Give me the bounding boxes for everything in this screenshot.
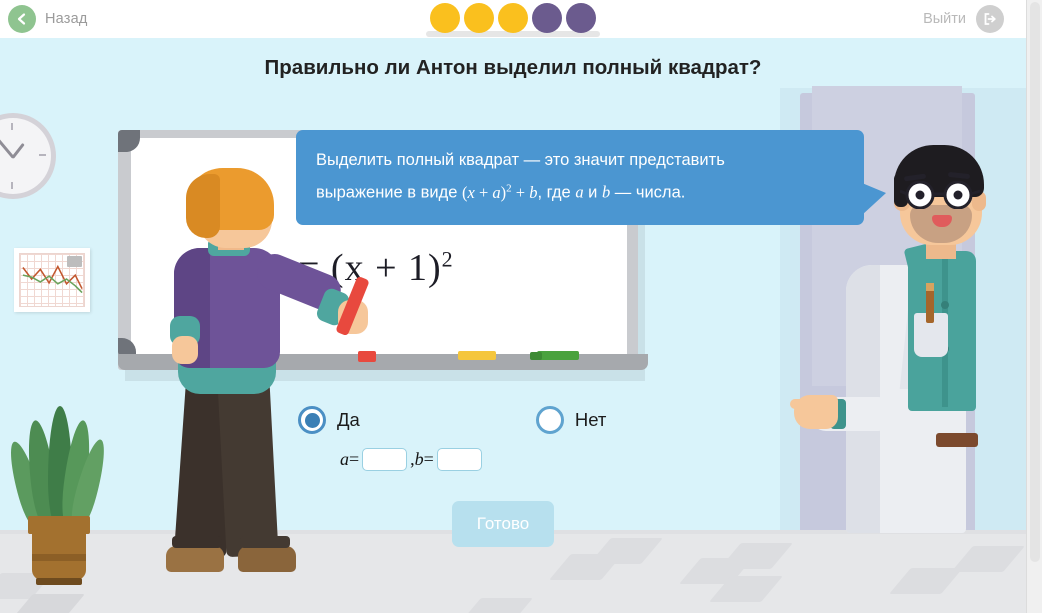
clock-minute-hand	[0, 137, 14, 159]
page-scrollbar[interactable]	[1026, 0, 1042, 613]
hint-conj: и	[584, 184, 602, 202]
hint-plus: +	[475, 183, 493, 202]
student-left-hand	[172, 336, 198, 364]
potted-plant	[10, 398, 106, 578]
progress-dot-3	[498, 3, 528, 33]
teacher-pen-tip	[926, 283, 934, 291]
hint-var-x: x	[468, 183, 475, 202]
lesson-screen: Назад Выйти	[0, 0, 1042, 613]
hint-var-a: a	[492, 183, 500, 202]
radio-no-label: Нет	[575, 409, 607, 431]
hint-plus-b: +	[512, 183, 530, 202]
poster-chart	[19, 253, 85, 307]
hint-line-2-mid: , где	[537, 184, 575, 202]
teacher-pen	[926, 289, 934, 323]
glasses-icon	[900, 181, 982, 209]
submit-button[interactable]: Готово	[452, 501, 554, 547]
hint-line-2-suffix: — числа.	[610, 184, 685, 202]
teacher-shirt-button	[941, 301, 949, 309]
poster-badge-icon	[67, 256, 82, 267]
green-marker-cap	[530, 352, 542, 360]
scrollbar-thumb[interactable]	[1030, 2, 1040, 562]
student-left-shoe-cuff	[172, 536, 222, 548]
hint-var-a-inline: a	[575, 183, 583, 202]
hint-line-2-prefix: выражение в виде	[316, 184, 462, 202]
teacher-index-finger	[790, 399, 816, 409]
exit-label: Выйти	[923, 11, 966, 27]
green-marker	[537, 351, 579, 360]
progress-dot-2	[464, 3, 494, 33]
hint-formula: (x + a)2 + b	[462, 183, 537, 202]
yellow-marker	[458, 351, 496, 360]
back-label: Назад	[45, 11, 88, 27]
board-formula-exponent: 2	[442, 246, 454, 271]
clock-tick	[11, 123, 13, 130]
teacher-belt	[936, 433, 978, 447]
radio-no-icon[interactable]	[536, 406, 564, 434]
student-left-shoe	[166, 546, 224, 572]
plant-pot-base	[36, 578, 82, 585]
progress-dot-5	[566, 3, 596, 33]
exit-arrow-icon	[976, 5, 1004, 33]
exit-button[interactable]: Выйти	[923, 5, 1004, 33]
back-button[interactable]: Назад	[8, 5, 88, 33]
line-chart-poster	[14, 248, 90, 312]
radio-option-no[interactable]: Нет	[536, 406, 607, 434]
lesson-body: Правильно ли Антон выделил полный квадра…	[0, 38, 1026, 613]
coefficients-row: a = , b =	[340, 448, 606, 471]
plant-pot-band	[32, 554, 86, 561]
coef-b-equals: =	[424, 449, 434, 470]
student-right-shoe-cuff	[240, 536, 290, 548]
chevron-left-icon	[8, 5, 36, 33]
clock-face	[0, 118, 51, 194]
hint-bubble: Выделить полный квадрат — это значит пре…	[296, 130, 864, 225]
student-at-whiteboard	[160, 168, 370, 588]
hint-line-1: Выделить полный квадрат — это значит пре…	[316, 146, 844, 174]
hint-line-2: выражение в виде (x + a)2 + b, где a и b…	[316, 174, 844, 207]
coef-b-label: b	[415, 449, 424, 470]
clock-tick	[39, 154, 46, 156]
student-right-shoe	[238, 546, 296, 572]
wall-clock	[0, 113, 56, 199]
clock-tick	[11, 182, 13, 189]
page-title: Правильно ли Антон выделил полный квадра…	[0, 56, 1026, 80]
coef-b-input[interactable]	[437, 448, 482, 471]
student-hair-shade	[186, 174, 220, 238]
hint-var-b-inline: b	[602, 183, 610, 202]
student-right-leg	[217, 379, 278, 557]
progress-dot-4	[532, 3, 562, 33]
progress-dots	[426, 3, 600, 37]
top-bar: Назад Выйти	[0, 0, 1026, 38]
bubble-tail	[862, 183, 886, 215]
progress-dot-1	[430, 3, 460, 33]
